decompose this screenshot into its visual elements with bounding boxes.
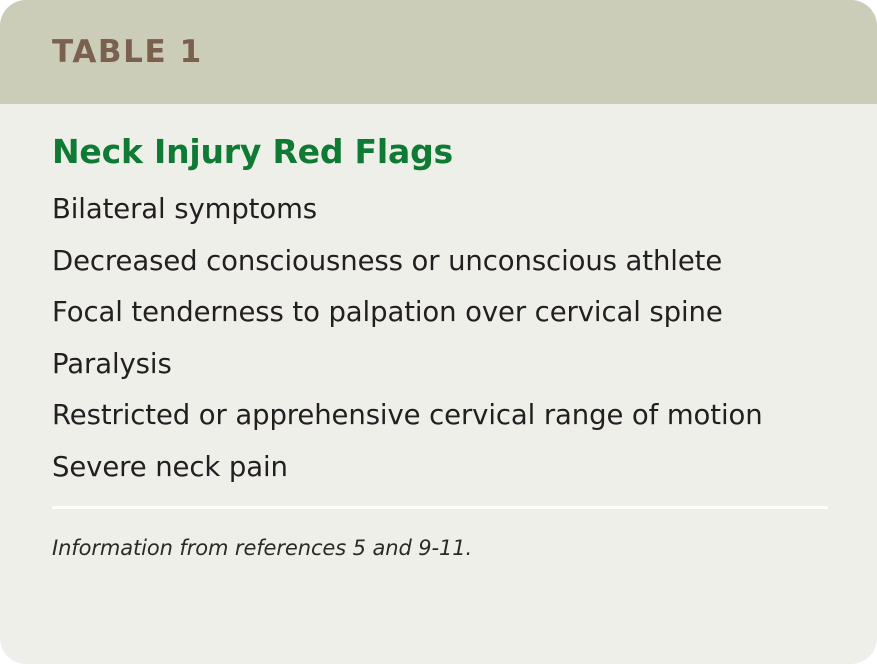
table-number-label: TABLE 1 — [52, 37, 203, 68]
list-item: Restricted or apprehensive cervical rang… — [52, 398, 828, 433]
table-header-band: TABLE 1 — [0, 0, 877, 104]
table-title: Neck Injury Red Flags — [52, 104, 828, 170]
table-card: TABLE 1 Neck Injury Red Flags Bilateral … — [0, 0, 877, 664]
footnote-divider — [52, 506, 828, 509]
list-item: Severe neck pain — [52, 450, 828, 485]
table-body: Neck Injury Red Flags Bilateral symptoms… — [0, 104, 877, 561]
list-item: Decreased consciousness or unconscious a… — [52, 244, 828, 279]
list-item: Bilateral symptoms — [52, 192, 828, 227]
source-note: Information from references 5 and 9-11. — [52, 517, 828, 561]
list-item: Paralysis — [52, 347, 828, 382]
red-flag-list: Bilateral symptoms Decreased consciousne… — [52, 170, 828, 485]
list-item: Focal tenderness to palpation over cervi… — [52, 295, 828, 330]
